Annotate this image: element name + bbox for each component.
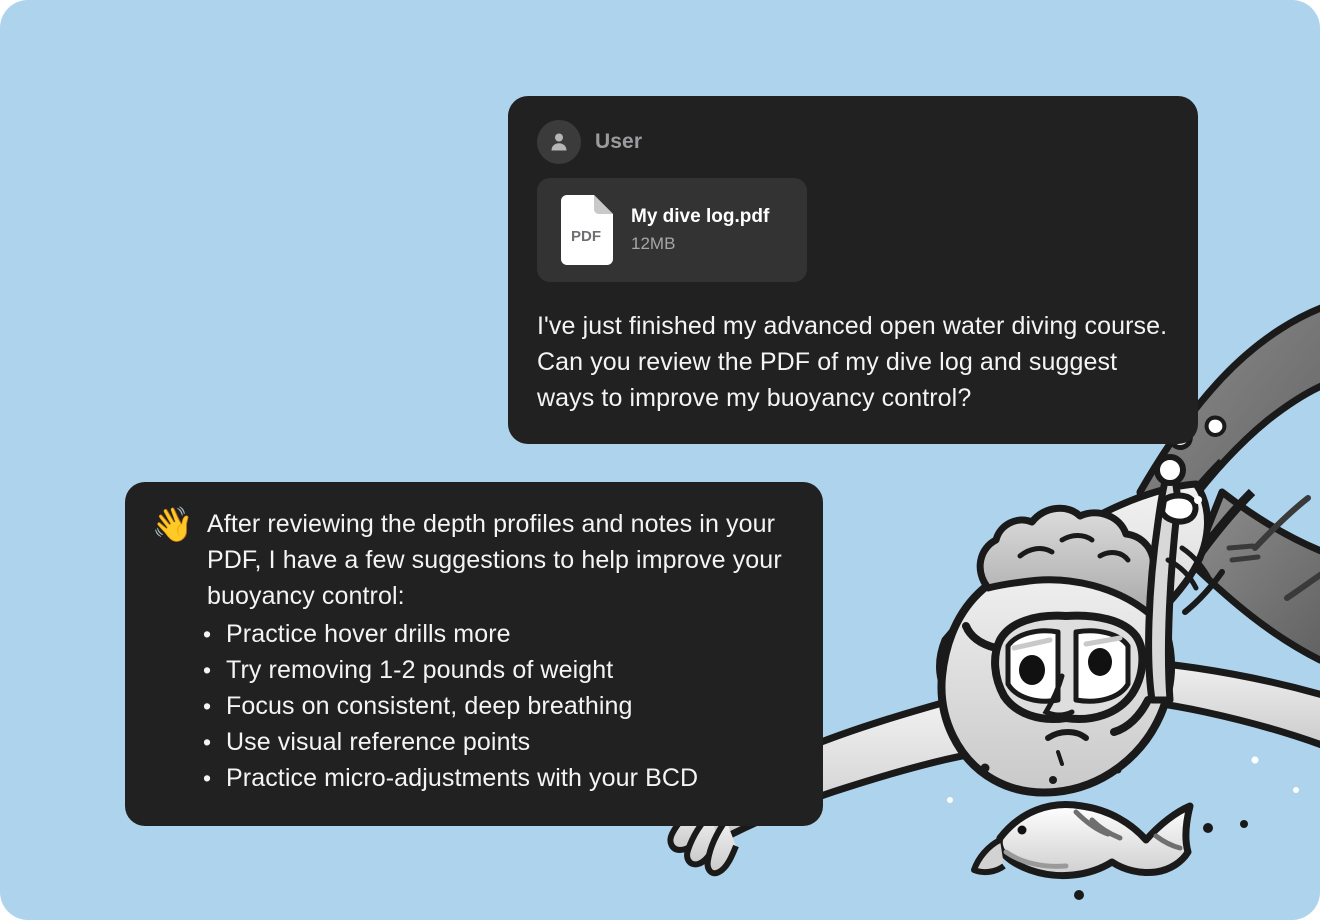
pdf-file-icon: PDF xyxy=(557,195,613,265)
fish-illustration xyxy=(974,804,1190,875)
attachment-card[interactable]: PDF My dive log.pdf 12MB xyxy=(537,178,807,282)
list-item: Use visual reference points xyxy=(199,724,797,760)
list-item: Practice hover drills more xyxy=(199,616,797,652)
assistant-suggestion-list: Practice hover drills more Try removing … xyxy=(151,616,797,796)
screenshot-canvas: User PDF My dive log.pdf 12MB I've just … xyxy=(0,0,1320,920)
assistant-message-bubble: 👋 After reviewing the depth profiles and… xyxy=(125,482,823,826)
air-bubbles-group xyxy=(947,385,1299,900)
svg-text:PDF: PDF xyxy=(571,228,601,245)
list-item: Practice micro-adjustments with your BCD xyxy=(199,760,797,796)
attachment-file-size: 12MB xyxy=(631,234,769,254)
user-message-header: User xyxy=(537,120,1169,164)
user-message-bubble: User PDF My dive log.pdf 12MB I've just … xyxy=(508,96,1198,444)
assistant-intro-row: 👋 After reviewing the depth profiles and… xyxy=(151,506,797,614)
attachment-file-name: My dive log.pdf xyxy=(631,206,769,228)
person-avatar-icon xyxy=(537,120,581,164)
snorkel xyxy=(1114,469,1195,732)
assistant-intro-text: After reviewing the depth profiles and n… xyxy=(207,506,797,614)
list-item: Try removing 1-2 pounds of weight xyxy=(199,652,797,688)
waving-hand-emoji: 👋 xyxy=(151,506,195,544)
dive-mask xyxy=(966,616,1142,719)
list-item: Focus on consistent, deep breathing xyxy=(199,688,797,724)
user-message-text: I've just finished my advanced open wate… xyxy=(537,308,1169,416)
user-role-label: User xyxy=(595,130,642,154)
